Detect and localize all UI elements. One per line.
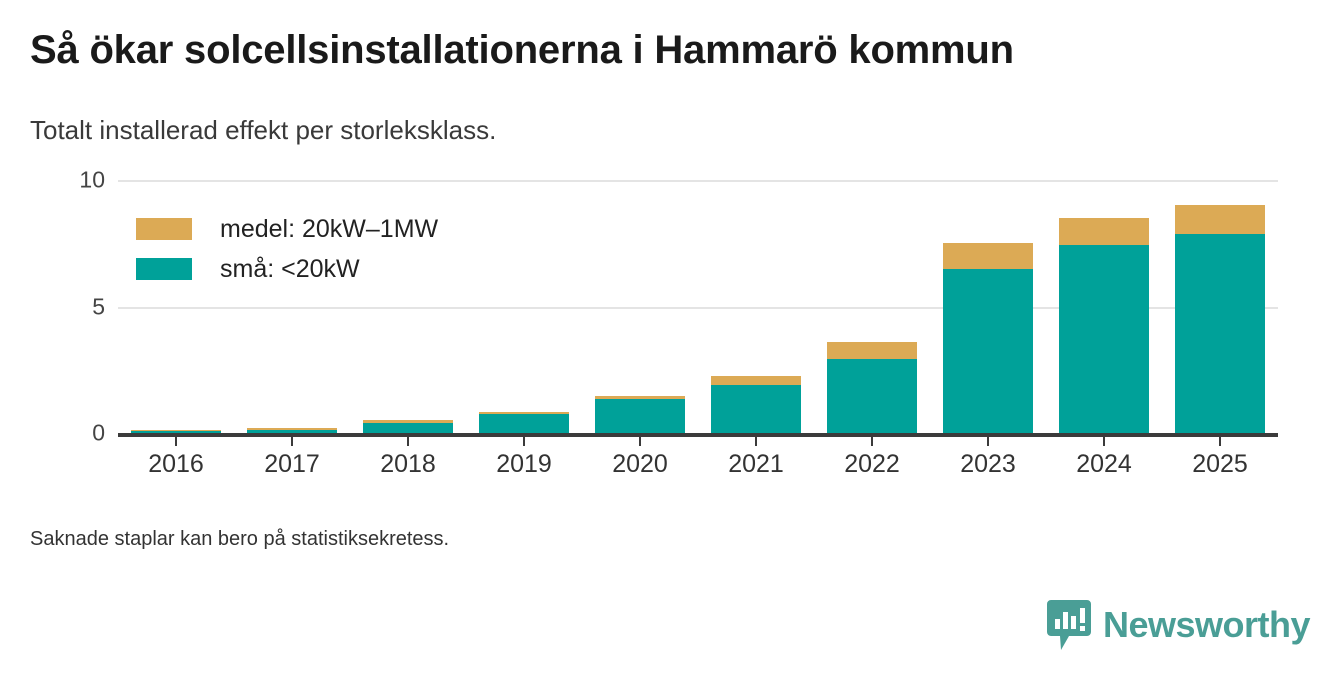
x-axis-tick-label: 2025	[1192, 450, 1248, 479]
x-axis-tick-label: 2023	[960, 450, 1016, 479]
y-axis-tick-label: 10	[15, 167, 105, 194]
x-axis-tick-mark	[639, 433, 641, 446]
x-axis-tick-label: 2022	[844, 450, 900, 479]
legend-swatch	[136, 258, 192, 280]
x-axis-tick-label: 2017	[264, 450, 320, 479]
x-axis-tick-mark	[291, 433, 293, 446]
legend-item[interactable]: små: <20kW	[136, 252, 438, 286]
x-axis-tick-label: 2019	[496, 450, 552, 479]
x-axis-tick-mark	[871, 433, 873, 446]
newsworthy-logo: Newsworthy	[1047, 600, 1310, 650]
bar-group[interactable]	[595, 396, 685, 433]
x-axis-tick-mark	[755, 433, 757, 446]
x-axis-tick-mark	[1103, 433, 1105, 446]
bar-segment[interactable]	[827, 342, 917, 359]
x-axis-tick-label: 2021	[728, 450, 784, 479]
x-axis-tick-mark	[523, 433, 525, 446]
bar-group[interactable]	[479, 412, 569, 433]
bar-segment[interactable]	[1175, 234, 1265, 433]
footnote: Saknade staplar kan bero på statistiksek…	[30, 528, 449, 551]
bar-group[interactable]	[711, 376, 801, 433]
bar-group[interactable]	[363, 420, 453, 433]
legend-label: medel: 20kW–1MW	[220, 215, 438, 244]
bar-segment[interactable]	[595, 399, 685, 433]
chart-page: Så ökar solcellsinstallationerna i Hamma…	[0, 0, 1340, 685]
x-axis-tick-mark	[1219, 433, 1221, 446]
x-axis-tick-mark	[175, 433, 177, 446]
y-axis-tick-label: 0	[15, 420, 105, 447]
legend-item[interactable]: medel: 20kW–1MW	[136, 212, 438, 246]
bar-group[interactable]	[943, 243, 1033, 433]
newsworthy-bubble-chart-icon	[1047, 600, 1091, 650]
bar-segment[interactable]	[943, 243, 1033, 268]
x-axis-tick-mark	[407, 433, 409, 446]
x-axis-tick-label: 2020	[612, 450, 668, 479]
bar-segment[interactable]	[363, 423, 453, 433]
bar-segment[interactable]	[711, 376, 801, 386]
page-title: Så ökar solcellsinstallationerna i Hamma…	[30, 28, 1014, 73]
bar-segment[interactable]	[827, 359, 917, 433]
bar-segment[interactable]	[1059, 245, 1149, 433]
x-axis-tick-mark	[987, 433, 989, 446]
chart-subtitle: Totalt installerad effekt per storlekskl…	[30, 115, 496, 146]
bar-segment[interactable]	[1059, 218, 1149, 245]
x-axis-tick-label: 2018	[380, 450, 436, 479]
bar-segment[interactable]	[943, 269, 1033, 433]
bar-group[interactable]	[1059, 218, 1149, 433]
bar-group[interactable]	[1175, 205, 1265, 433]
bar-segment[interactable]	[479, 414, 569, 433]
bar-segment[interactable]	[1175, 205, 1265, 234]
bar-segment[interactable]	[711, 385, 801, 433]
y-axis-tick-label: 5	[15, 293, 105, 320]
chart-legend: medel: 20kW–1MWsmå: <20kW	[136, 212, 438, 292]
legend-swatch	[136, 218, 192, 240]
x-axis-tick-label: 2024	[1076, 450, 1132, 479]
bar-group[interactable]	[827, 342, 917, 433]
x-axis-tick-label: 2016	[148, 450, 204, 479]
legend-label: små: <20kW	[220, 255, 360, 284]
newsworthy-wordmark: Newsworthy	[1103, 604, 1310, 646]
